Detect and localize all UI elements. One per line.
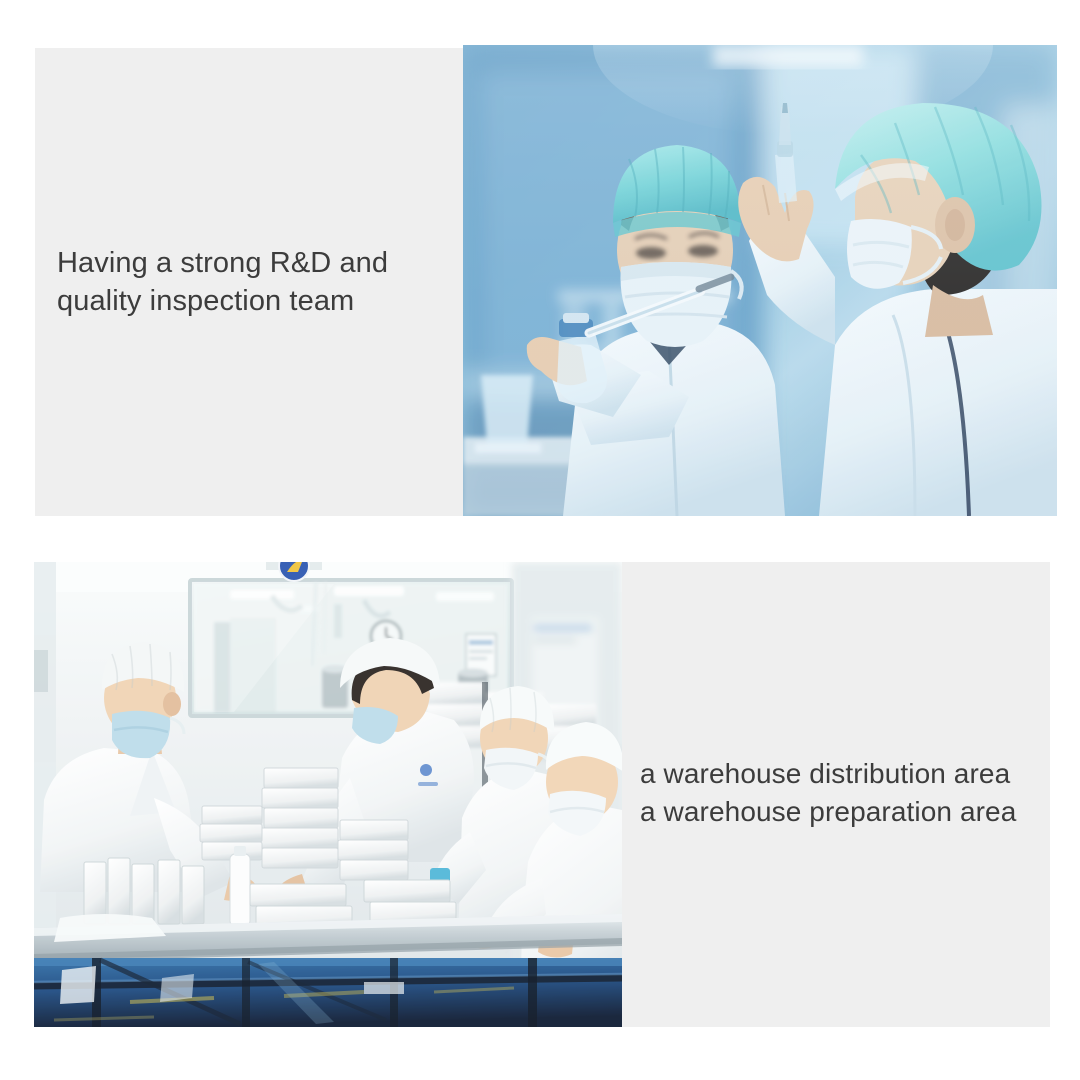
rd-caption-line-2: quality inspection team <box>57 282 457 320</box>
rd-caption: Having a strong R&D and quality inspecti… <box>57 244 457 321</box>
rd-lab-photo <box>463 45 1057 516</box>
warehouse-caption-line-2: a warehouse preparation area <box>640 793 1050 831</box>
rd-lab-photo-graphic <box>463 45 1057 516</box>
warehouse-caption: a warehouse distribution area a warehous… <box>640 755 1050 831</box>
rd-caption-line-1: Having a strong R&D and <box>57 244 457 282</box>
warehouse-packing-photo-graphic <box>34 562 622 1027</box>
warehouse-section: a warehouse distribution area a warehous… <box>34 560 1050 1027</box>
warehouse-caption-line-1: a warehouse distribution area <box>640 755 1050 793</box>
warehouse-packing-photo <box>34 562 622 1027</box>
rd-section: Having a strong R&D and quality inspecti… <box>35 48 1057 516</box>
